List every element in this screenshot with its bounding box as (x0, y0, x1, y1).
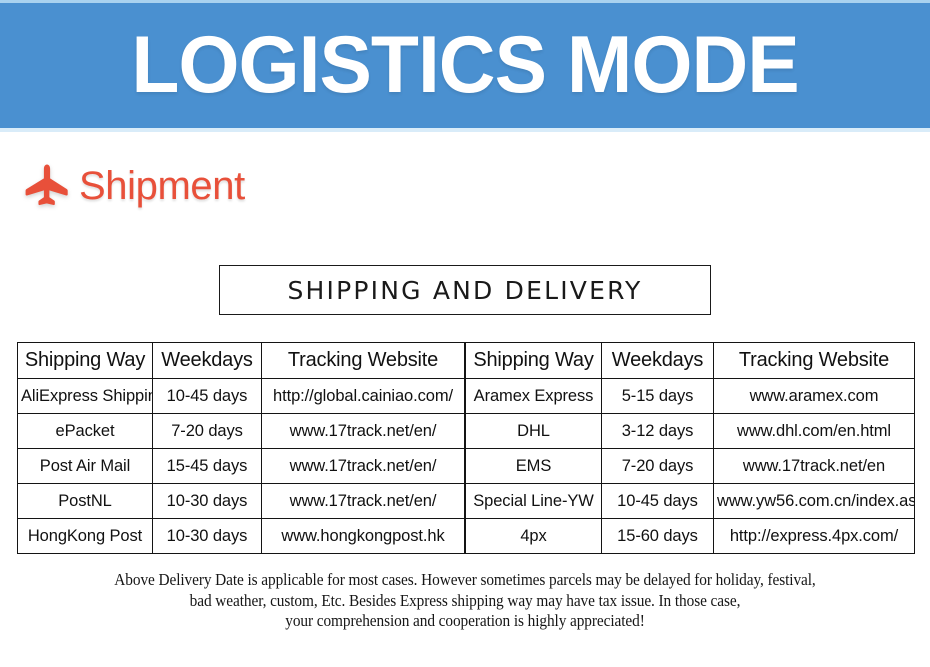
logistics-mode-page: LOGISTICS MODE Shipment SHIPPING AND DEL… (0, 0, 930, 667)
cell-tracking-website[interactable]: www.dhl.com/en.html (714, 414, 915, 449)
column-header-weekdays: Weekdays (602, 343, 714, 379)
table-header-row: Shipping Way Weekdays Tracking Website (466, 343, 915, 379)
airplane-icon (24, 163, 70, 209)
table-header-row: Shipping Way Weekdays Tracking Website (18, 343, 465, 379)
cell-tracking-website[interactable]: www.17track.net/en/ (262, 484, 465, 519)
table-row: Aramex Express 5-15 days www.aramex.com (466, 379, 915, 414)
cell-weekdays: 7-20 days (153, 414, 262, 449)
table-row: EMS 7-20 days www.17track.net/en (466, 449, 915, 484)
disclaimer-line-2: bad weather, custom, Etc. Besides Expres… (33, 591, 898, 612)
page-title: LOGISTICS MODE (131, 25, 798, 106)
cell-tracking-website[interactable]: http://global.cainiao.com/ (262, 379, 465, 414)
cell-shipping-way: Special Line-YW (466, 484, 602, 519)
cell-weekdays: 10-30 days (153, 484, 262, 519)
table-row: Post Air Mail 15-45 days www.17track.net… (18, 449, 465, 484)
cell-tracking-website[interactable]: www.yw56.com.cn/index.aspx (714, 484, 915, 519)
table-row: PostNL 10-30 days www.17track.net/en/ (18, 484, 465, 519)
table-row: 4px 15-60 days http://express.4px.com/ (466, 519, 915, 554)
cell-shipping-way: HongKong Post (18, 519, 153, 554)
shipping-table-right: Shipping Way Weekdays Tracking Website A… (465, 342, 915, 554)
table-row: DHL 3-12 days www.dhl.com/en.html (466, 414, 915, 449)
column-header-weekdays: Weekdays (153, 343, 262, 379)
cell-shipping-way: ePacket (18, 414, 153, 449)
cell-weekdays: 7-20 days (602, 449, 714, 484)
cell-weekdays: 15-45 days (153, 449, 262, 484)
shipment-heading: Shipment (24, 163, 245, 209)
column-header-shipping-way: Shipping Way (18, 343, 153, 379)
shipping-table-left: Shipping Way Weekdays Tracking Website A… (17, 342, 465, 554)
cell-shipping-way: EMS (466, 449, 602, 484)
table-row: HongKong Post 10-30 days www.hongkongpos… (18, 519, 465, 554)
table-row: ePacket 7-20 days www.17track.net/en/ (18, 414, 465, 449)
cell-weekdays: 10-45 days (602, 484, 714, 519)
disclaimer-line-3: your comprehension and cooperation is hi… (33, 611, 898, 632)
table-row: Special Line-YW 10-45 days www.yw56.com.… (466, 484, 915, 519)
cell-weekdays: 10-45 days (153, 379, 262, 414)
banner: LOGISTICS MODE (0, 0, 930, 132)
cell-shipping-way: Post Air Mail (18, 449, 153, 484)
cell-tracking-website[interactable]: www.17track.net/en/ (262, 414, 465, 449)
cell-shipping-way: PostNL (18, 484, 153, 519)
banner-background: LOGISTICS MODE (0, 3, 930, 128)
column-header-tracking-website: Tracking Website (262, 343, 465, 379)
table-row: AliExpress Shipping 10-45 days http://gl… (18, 379, 465, 414)
cell-shipping-way: Aramex Express (466, 379, 602, 414)
cell-weekdays: 5-15 days (602, 379, 714, 414)
cell-weekdays: 3-12 days (602, 414, 714, 449)
column-header-shipping-way: Shipping Way (466, 343, 602, 379)
cell-shipping-way: 4px (466, 519, 602, 554)
shipment-label: Shipment (79, 166, 245, 206)
column-header-tracking-website: Tracking Website (714, 343, 915, 379)
shipping-tables: Shipping Way Weekdays Tracking Website A… (17, 342, 913, 554)
banner-bottom-edge (0, 128, 930, 132)
cell-tracking-website[interactable]: www.17track.net/en/ (262, 449, 465, 484)
cell-tracking-website[interactable]: www.aramex.com (714, 379, 915, 414)
shipping-and-delivery-box: SHIPPING AND DELIVERY (219, 265, 711, 315)
cell-shipping-way: AliExpress Shipping (18, 379, 153, 414)
cell-tracking-website[interactable]: www.hongkongpost.hk (262, 519, 465, 554)
cell-tracking-website[interactable]: www.17track.net/en (714, 449, 915, 484)
cell-shipping-way: DHL (466, 414, 602, 449)
disclaimer-line-1: Above Delivery Date is applicable for mo… (33, 570, 898, 591)
cell-weekdays: 10-30 days (153, 519, 262, 554)
delivery-disclaimer: Above Delivery Date is applicable for mo… (33, 570, 898, 632)
cell-tracking-website[interactable]: http://express.4px.com/ (714, 519, 915, 554)
shipping-and-delivery-title: SHIPPING AND DELIVERY (287, 276, 642, 305)
cell-weekdays: 15-60 days (602, 519, 714, 554)
